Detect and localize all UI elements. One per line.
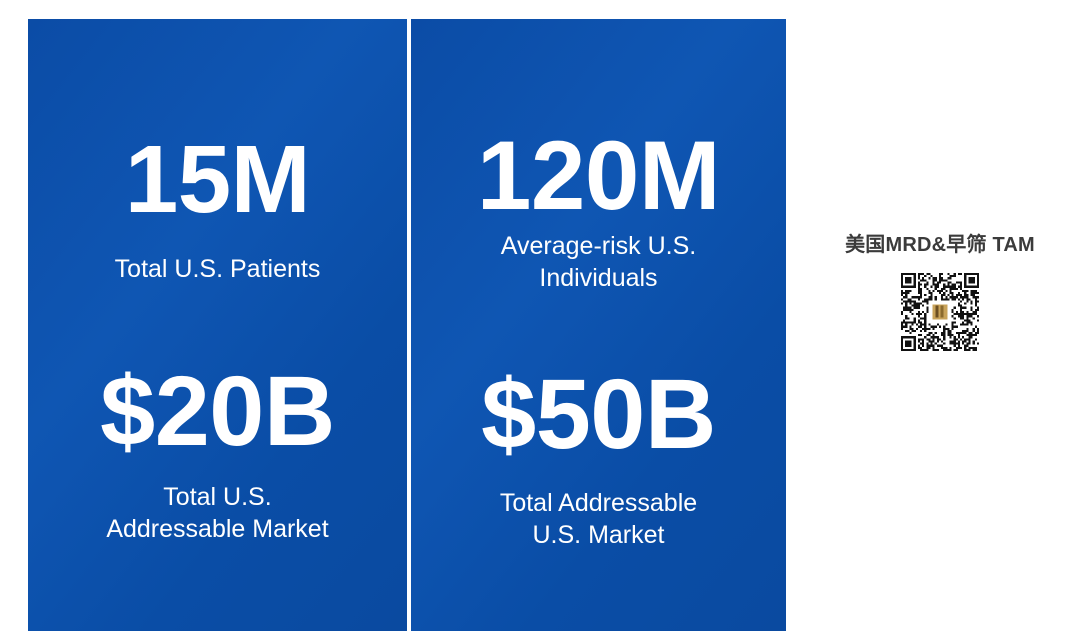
stat-card-total-addressable-us-market: $50B Total Addressable U.S. Market — [411, 294, 786, 551]
stat-card-total-us-patients: 15M Total U.S. Patients — [28, 19, 407, 285]
qr-code-icon[interactable] — [901, 273, 979, 351]
stat-value: $50B — [481, 367, 716, 461]
stat-card-total-us-addressable-market: $20B Total U.S. Addressable Market — [28, 285, 407, 545]
qr-caption: 美国MRD&早筛 TAM — [812, 228, 1068, 257]
stat-value: 15M — [125, 134, 310, 225]
book-logo-icon — [932, 304, 949, 321]
stat-card-average-risk-individuals: 120M Average-risk U.S. Individuals — [411, 19, 786, 294]
stat-label: Total Addressable U.S. Market — [500, 487, 697, 551]
stat-label: Total U.S. Addressable Market — [106, 481, 328, 545]
stat-value: $20B — [100, 364, 335, 458]
left-panel: 15M Total U.S. Patients $20B Total U.S. … — [28, 19, 407, 631]
stats-infographic: 15M Total U.S. Patients $20B Total U.S. … — [28, 19, 786, 631]
stat-label: Total U.S. Patients — [115, 253, 321, 285]
stat-value: 120M — [477, 129, 720, 222]
qr-section: 美国MRD&早筛 TAM — [812, 228, 1068, 351]
right-panel: 120M Average-risk U.S. Individuals $50B … — [411, 19, 786, 631]
stat-label: Average-risk U.S. Individuals — [501, 230, 696, 294]
